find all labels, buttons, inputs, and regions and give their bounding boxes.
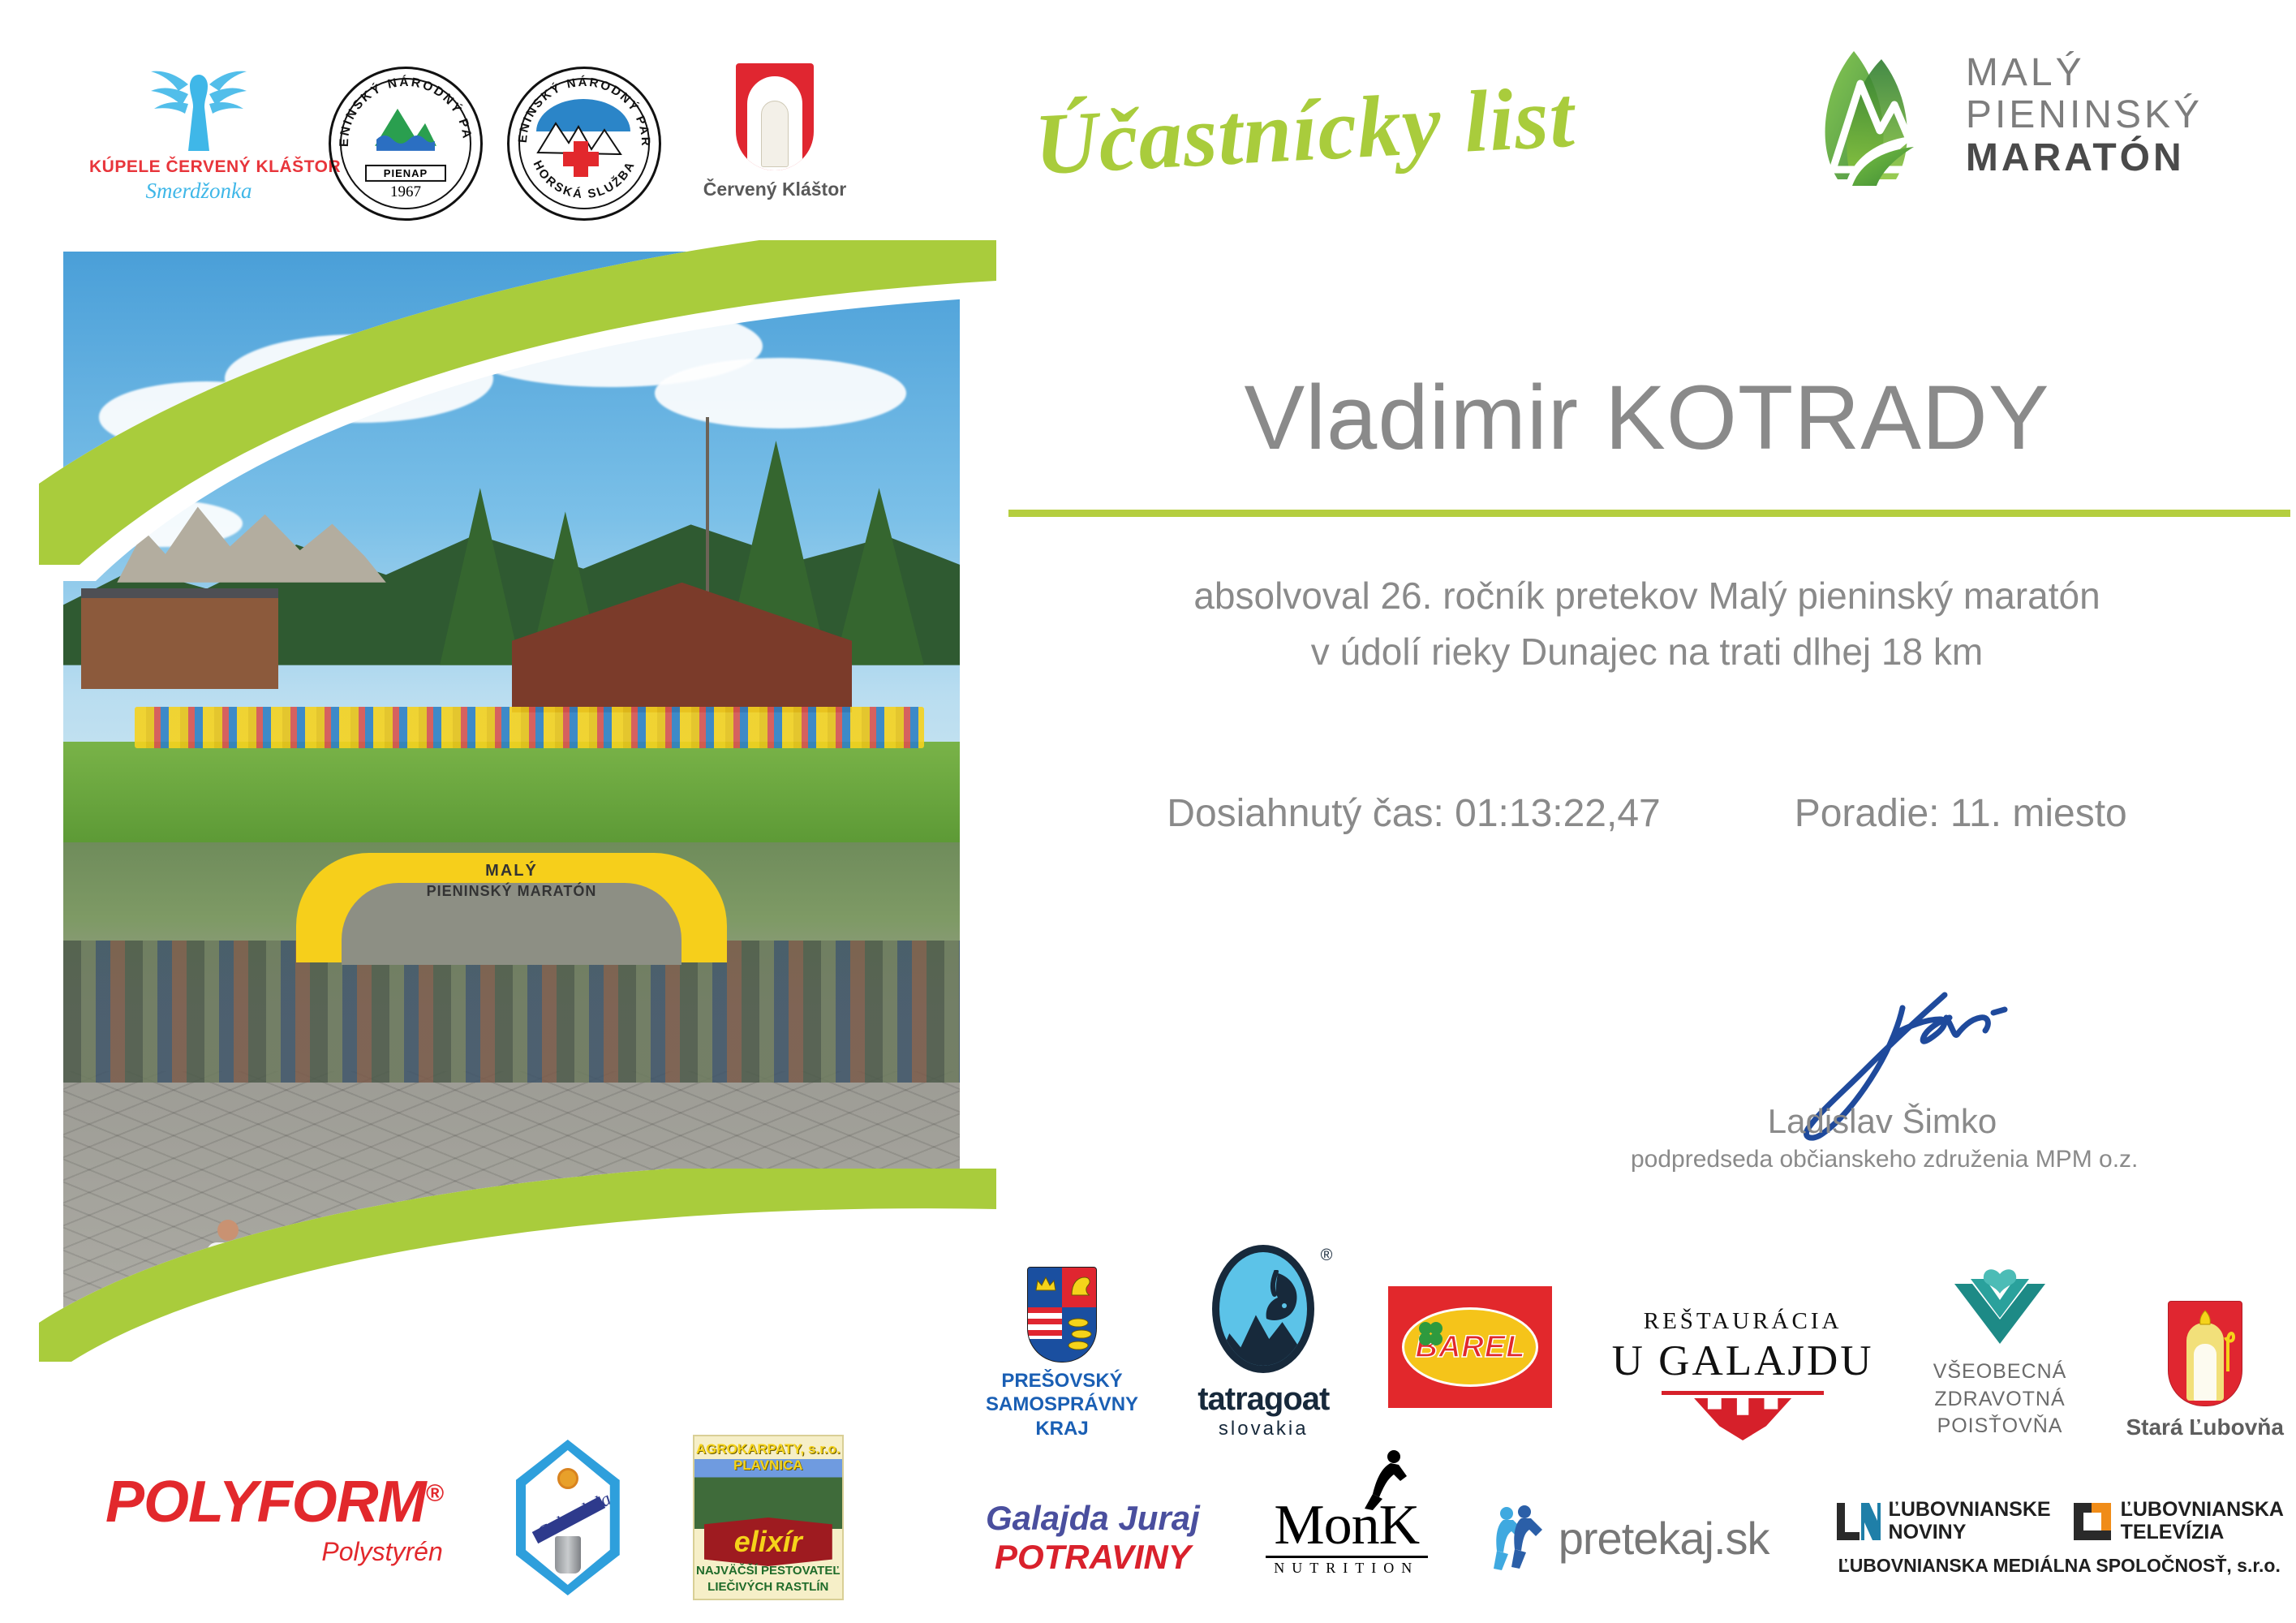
- calendula-mortar-icon: Calendula: [516, 1440, 620, 1595]
- elixir-banner: elixír: [704, 1518, 832, 1566]
- brand-line-3: MARATÓN: [1966, 138, 2203, 179]
- mountain-rescue-seal-icon: PIENINSKÝ NÁRODNÝ PARK HORSKÁ SLUŽBA: [507, 67, 661, 221]
- sponsor-psk: PREŠOVSKÝ SAMOSPRÁVNY KRAJ: [986, 1267, 1138, 1440]
- bib-number: 147: [561, 1286, 595, 1307]
- psk-label: PREŠOVSKÝ SAMOSPRÁVNY KRAJ: [986, 1369, 1138, 1440]
- results-row: Dosiahnutý čas: 01:13:22,47 Poradie: 11.…: [1006, 791, 2288, 836]
- runner-31: 31: [691, 1203, 733, 1350]
- psk-line-3: KRAJ: [986, 1417, 1138, 1440]
- accent-divider: [1008, 510, 2290, 517]
- runner-74: 74: [333, 1220, 375, 1366]
- agrokarpaty-top: AGROKARPATY, s.r.o. PLAVNICA: [694, 1441, 842, 1474]
- folk-ornament-icon: [1694, 1398, 1791, 1440]
- pienap-year: 1967: [329, 183, 483, 201]
- sponsor-pretekaj: pretekaj.sk: [1494, 1504, 1769, 1572]
- agrokarpaty-line-1: NAJVÄČŠÍ PESTOVATEĽ: [694, 1564, 842, 1578]
- bib-number: 209: [211, 1286, 245, 1307]
- monk-runner-icon: [1361, 1449, 1413, 1510]
- bib-number: 234: [820, 1286, 854, 1307]
- bib-number: 31: [699, 1270, 725, 1291]
- arch-text-line2: PIENINSKÝ MARATÓN: [296, 883, 726, 900]
- vzp-line-2: ZDRAVOTNÁ: [1933, 1386, 2067, 1414]
- brand-line-1: MALÝ: [1966, 53, 2203, 93]
- vzp-heart-chevron-icon: [1946, 1266, 2053, 1350]
- signatory-name: Ladislav Šimko: [1631, 1102, 2134, 1141]
- partner-logo-kupele: KÚPELE ČERVENÝ KLÁŠTOR Smerdžonka: [89, 57, 308, 204]
- sponsor-vzp: VŠEOBECNÁ ZDRAVOTNÁ POISŤOVŇA: [1933, 1266, 2067, 1440]
- vzp-label: VŠEOBECNÁ ZDRAVOTNÁ POISŤOVŇA: [1933, 1358, 2067, 1440]
- sponsor-galajda-juraj: Galajda Juraj POTRAVINY: [986, 1499, 1200, 1577]
- bib-number: 74: [340, 1286, 367, 1307]
- runner-234: 234: [816, 1220, 858, 1366]
- sponsor-barel: BAREL: [1388, 1286, 1552, 1408]
- polyform-name: POLYFORM®: [105, 1469, 443, 1535]
- sponsor-row-1: PREŠOVSKÝ SAMOSPRÁVNY KRAJ ® tatragoat s…: [986, 1238, 2284, 1440]
- coat-of-arms-icon: [736, 63, 814, 170]
- tatragoat-sub: slovakia: [1219, 1418, 1309, 1440]
- arch-text-line1: MALÝ: [296, 862, 726, 880]
- agrokarpaty-line-2: LIEČIVÝCH RASTLÍN: [694, 1580, 842, 1594]
- brand-logo: MALÝ PIENINSKÝ MARATÓN: [1804, 45, 2203, 187]
- galajda-line-1: Galajda Juraj: [986, 1499, 1200, 1538]
- partner-logo-pienap: PIENINSKÝ NÁRODNÝ PARK PIENAP 1967: [329, 67, 483, 221]
- ltv-line-2: TELEVÍZIA: [2121, 1522, 2284, 1544]
- sponsor-calendula: Calendula: [516, 1440, 620, 1595]
- certificate-page: KÚPELE ČERVENÝ KLÁŠTOR Smerdžonka PIENIN…: [0, 0, 2296, 1623]
- galajdu-line-1: REŠTAURÁCIA: [1644, 1308, 1842, 1335]
- psk-line-2: SAMOSPRÁVNY: [986, 1393, 1138, 1416]
- vzp-line-3: POISŤOVŇA: [1933, 1413, 2067, 1440]
- lms-logos: ĽUBOVNIANSKE NOVINY ĽUBOVNIANSKA TELEVÍZ…: [1835, 1499, 2284, 1543]
- polyform-registered: ®: [426, 1480, 443, 1507]
- tatragoat-name: tatragoat: [1197, 1381, 1329, 1418]
- runners-photo: MALÝ PIENINSKÝ MARATÓN 209 74 249 147: [63, 842, 960, 1388]
- partner-logo-horska-sluzba: PIENINSKÝ NÁRODNÝ PARK HORSKÁ SLUŽBA: [507, 67, 661, 221]
- sponsor-tatragoat: ® tatragoat slovakia: [1197, 1245, 1329, 1440]
- partner-logo-cerveny-klastor: Červený Kláštor: [694, 63, 856, 200]
- ln-line-1: ĽUBOVNIANSKE: [1889, 1499, 2051, 1522]
- sponsor-monk: MonK NUTRITION: [1266, 1499, 1428, 1577]
- brand-wordmark: MALÝ PIENINSKÝ MARATÓN: [1966, 53, 2203, 179]
- ln-line-2: NOVINY: [1889, 1522, 2051, 1544]
- page-title: Účastnícky list: [1032, 67, 1577, 196]
- elixir-name: elixír: [734, 1525, 802, 1559]
- scenic-photo: [63, 252, 960, 842]
- two-runners-icon: [1494, 1504, 1547, 1572]
- sponsor-row-2: Galajda Juraj POTRAVINY MonK NUTRITION: [986, 1477, 2284, 1599]
- barel-clover-icon: BAREL: [1388, 1286, 1552, 1408]
- galajdu-line-2: U GALAJDU: [1612, 1337, 1874, 1385]
- kupele-subtitle: Smerdžonka: [89, 179, 308, 204]
- recipient-name: Vladimir KOTRADY: [1006, 365, 2288, 470]
- sponsor-polyform: POLYFORM® Polystyrén: [105, 1469, 443, 1567]
- sponsor-row-bottom-left: POLYFORM® Polystyrén Calendula AGROKARPA…: [105, 1424, 982, 1611]
- pienap-tag: PIENAP: [365, 165, 446, 182]
- runner-147: 147: [557, 1220, 599, 1366]
- tatragoat-chamois-icon: [1212, 1245, 1314, 1373]
- polyform-word: POLYFORM: [105, 1470, 426, 1535]
- placement-value: 11. miesto: [1950, 792, 2127, 835]
- placement-label: Poradie:: [1795, 792, 1940, 835]
- sponsor-agrokarpaty: AGROKARPATY, s.r.o. PLAVNICA elixír NAJV…: [693, 1435, 844, 1600]
- mountain-leaf-icon: [1804, 45, 1948, 187]
- ltv-line-1: ĽUBOVNIANSKA: [2121, 1499, 2284, 1522]
- angel-fountain-icon: [89, 57, 308, 154]
- stara-lubovna-label: Stará Ľubovňa: [2126, 1414, 2283, 1440]
- galajda-line-2: POTRAVINY: [995, 1538, 1191, 1577]
- body-line-2: v údolí rieky Dunajec na trati dlhej 18 …: [1006, 624, 2288, 680]
- hs-emblem: [531, 94, 635, 183]
- finish-time-label: Dosiahnutý čas:: [1167, 792, 1444, 835]
- kupele-title: KÚPELE ČERVENÝ KLÁŠTOR: [89, 157, 308, 177]
- finish-time: Dosiahnutý čas: 01:13:22,47: [1167, 791, 1660, 836]
- registered-mark: ®: [1321, 1246, 1333, 1265]
- finish-time-value: 01:13:22,47: [1455, 792, 1661, 835]
- galajdu-divider: [1662, 1391, 1824, 1395]
- lms-footer: ĽUBOVNIANSKA MEDIÁLNA SPOLOČNOSŤ, s.r.o.: [1838, 1555, 2281, 1577]
- park-seal-icon: PIENINSKÝ NÁRODNÝ PARK PIENAP 1967: [329, 67, 483, 221]
- ln-logo-icon: [1835, 1501, 1881, 1542]
- brand-line-2: PIENINSKÝ: [1966, 95, 2203, 136]
- signature-block: Ladislav Šimko podpredseda občianskeho z…: [1631, 998, 2134, 1173]
- runner-249: 249: [422, 1198, 464, 1344]
- polyform-sub: Polystyrén: [105, 1537, 443, 1567]
- placement: Poradie: 11. miesto: [1795, 791, 2127, 836]
- sponsor-u-galajdu: REŠTAURÁCIA U GALAJDU: [1612, 1308, 1874, 1440]
- pretekaj-name: pretekaj.sk: [1559, 1512, 1769, 1565]
- certificate-body: absolvoval 26. ročník pretekov Malý pien…: [1006, 568, 2288, 680]
- runner-209: 209: [207, 1220, 249, 1366]
- psk-coat-of-arms-icon: [1027, 1267, 1097, 1363]
- pienap-emblem: PIENAP: [365, 99, 446, 182]
- vzp-line-1: VŠEOBECNÁ: [1933, 1358, 2067, 1386]
- sponsor-stara-lubovna: Stará Ľubovňa: [2126, 1301, 2283, 1440]
- bib-number: 249: [426, 1264, 460, 1285]
- stara-lubovna-coat-of-arms-icon: [2168, 1301, 2242, 1406]
- header-partner-logos: KÚPELE ČERVENÝ KLÁŠTOR Smerdžonka PIENIN…: [89, 57, 941, 227]
- cerveny-klastor-label: Červený Kláštor: [694, 179, 856, 200]
- psk-line-1: PREŠOVSKÝ: [986, 1369, 1138, 1393]
- sponsor-lms: ĽUBOVNIANSKE NOVINY ĽUBOVNIANSKA TELEVÍZ…: [1835, 1499, 2284, 1577]
- signatory-role: podpredseda občianskeho združenia MPM o.…: [1631, 1146, 2134, 1173]
- body-line-1: absolvoval 26. ročník pretekov Malý pien…: [1006, 568, 2288, 624]
- photo-panel: MALÝ PIENINSKÝ MARATÓN 209 74 249 147: [63, 252, 960, 1388]
- ltv-logo-icon: [2072, 1501, 2113, 1542]
- monk-sub: NUTRITION: [1274, 1560, 1419, 1577]
